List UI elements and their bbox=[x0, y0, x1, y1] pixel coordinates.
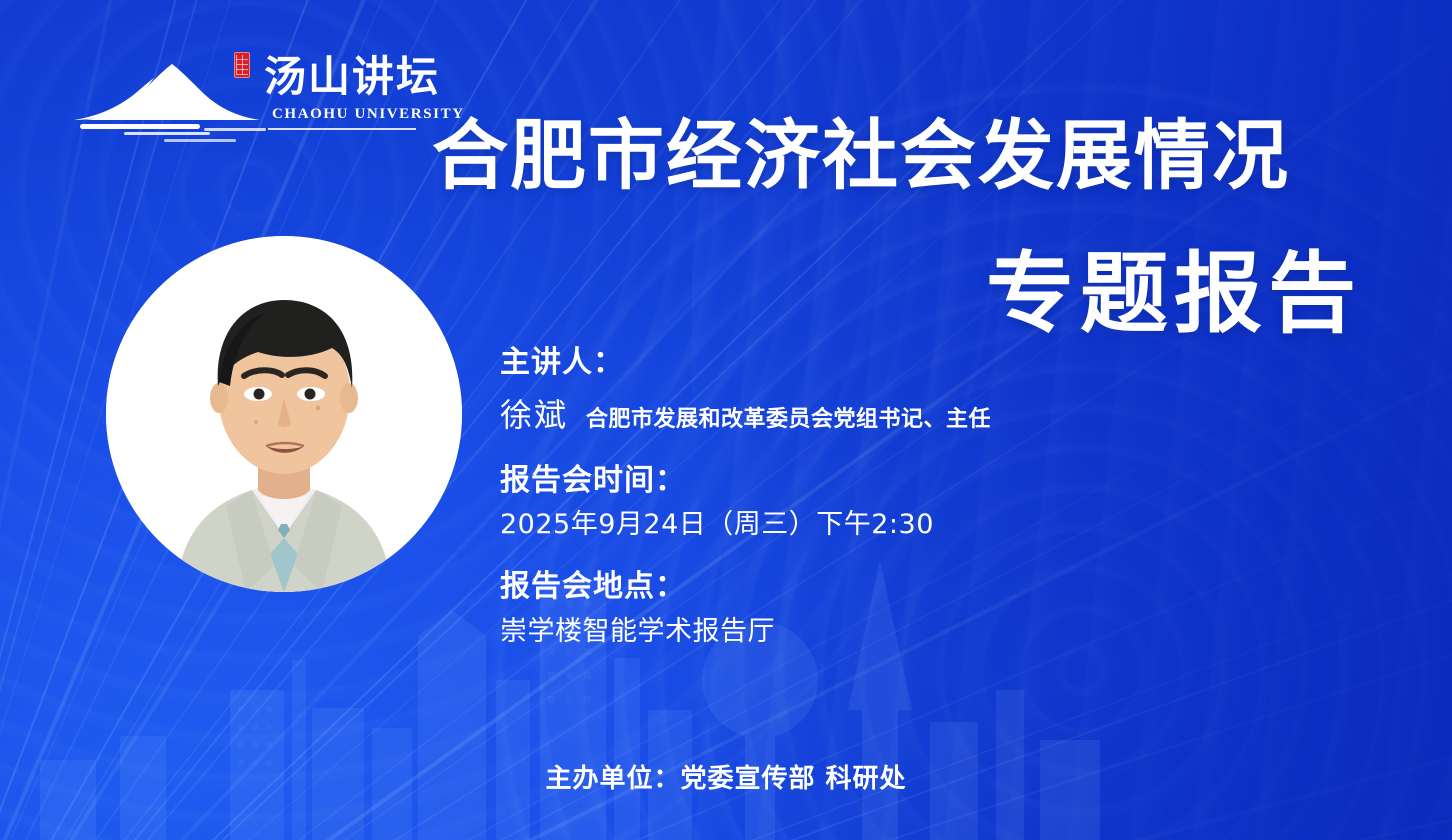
avatar bbox=[106, 236, 462, 592]
logo-name-cn: 汤山讲坛 bbox=[264, 56, 440, 98]
organizer-line: 主办单位：党委宣传部 科研处 bbox=[0, 758, 1452, 795]
page-title: 合肥市经济社会发展情况 bbox=[432, 116, 1362, 196]
speaker-name: 徐斌 bbox=[500, 390, 568, 436]
speaker-row: 徐斌 合肥市发展和改革委员会党组书记、主任 bbox=[500, 390, 1280, 436]
red-seal-icon bbox=[234, 52, 250, 78]
speaker-portrait-illustration bbox=[106, 236, 462, 592]
place-value: 崇学楼智能学术报告厅 bbox=[500, 614, 1280, 649]
time-label: 报告会时间： bbox=[500, 462, 1280, 500]
place-label: 报告会地点： bbox=[500, 568, 1280, 606]
event-poster: 汤山讲坛 CHAOHU UNIVERSITY 合肥市经济社会发展情况 专题报告 bbox=[0, 0, 1452, 840]
logo-divider bbox=[268, 128, 416, 130]
forum-logo: 汤山讲坛 CHAOHU UNIVERSITY bbox=[72, 50, 417, 150]
event-details: 主讲人： 徐斌 合肥市发展和改革委员会党组书记、主任 报告会时间： 2025年9… bbox=[500, 344, 1280, 649]
time-value: 2025年9月24日（周三）下午2:30 bbox=[500, 507, 1280, 542]
speaker-title: 合肥市发展和改革委员会党组书记、主任 bbox=[586, 401, 991, 433]
page-subtitle: 专题报告 bbox=[432, 248, 1362, 340]
speaker-label: 主讲人： bbox=[500, 344, 1280, 382]
